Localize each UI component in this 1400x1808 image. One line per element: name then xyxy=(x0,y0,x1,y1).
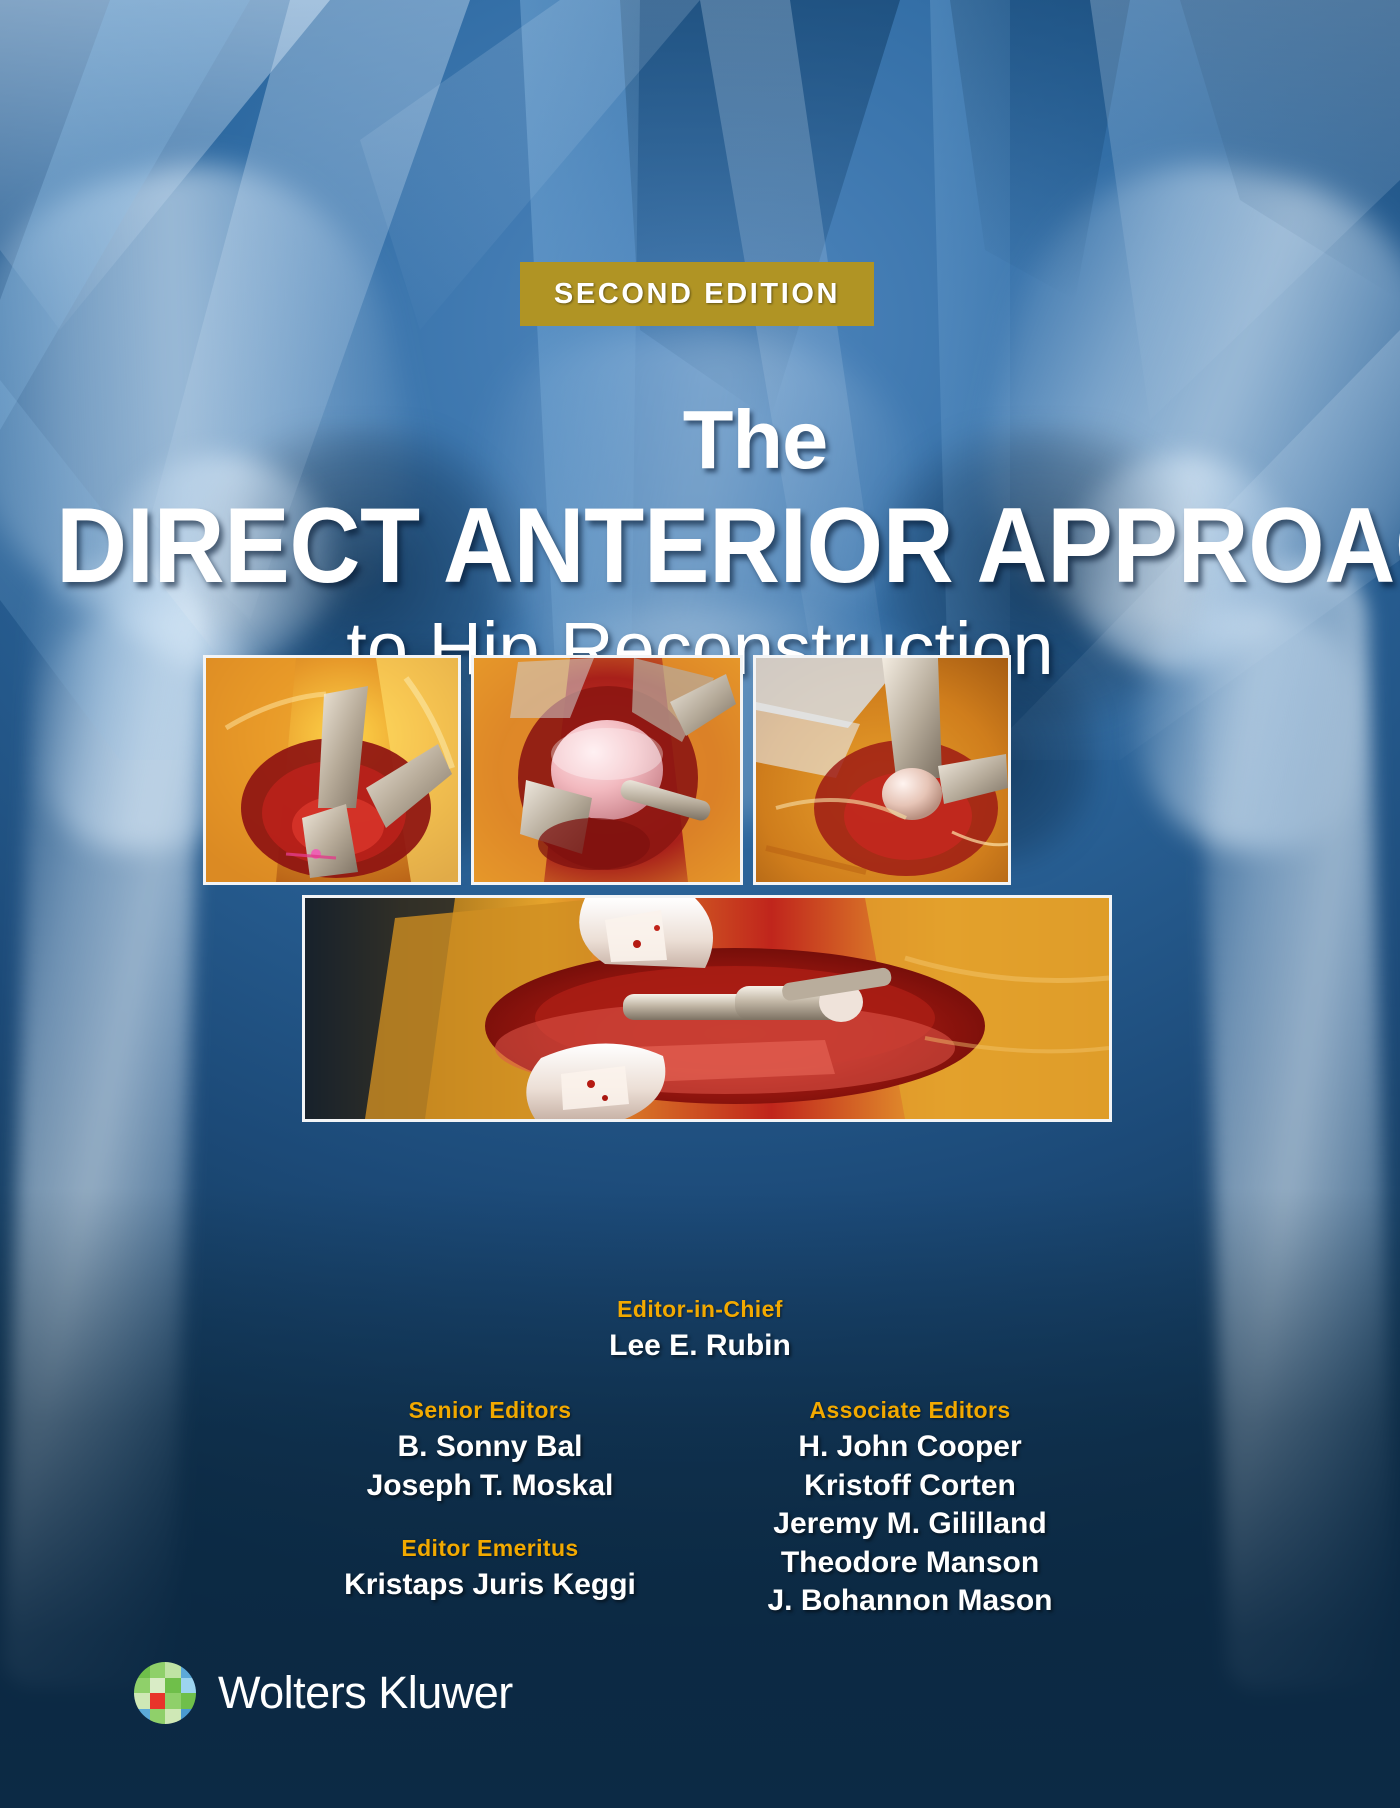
senior-editors-role: Senior Editors xyxy=(280,1397,700,1424)
globe-cell xyxy=(165,1709,181,1725)
publisher-name: Wolters Kluwer xyxy=(218,1667,513,1719)
book-cover: SECOND EDITION The DIRECT ANTERIOR APPRO… xyxy=(0,0,1400,1808)
credits-block: Editor-in-Chief Lee E. Rubin Senior Edit… xyxy=(0,1296,1400,1620)
surgical-photo-2 xyxy=(471,655,743,885)
associate-editors-column: Associate Editors H. John Cooper Kristof… xyxy=(700,1397,1120,1620)
senior-editor-name-1: B. Sonny Bal xyxy=(280,1428,700,1466)
associate-editor-name-5: J. Bohannon Mason xyxy=(700,1582,1120,1620)
surgical-photo-1-image xyxy=(206,658,458,882)
globe-cell xyxy=(165,1678,181,1694)
photo-row-top xyxy=(203,655,1211,885)
editor-in-chief-name: Lee E. Rubin xyxy=(0,1327,1400,1365)
senior-editor-name-2: Joseph T. Moskal xyxy=(280,1467,700,1505)
publisher-logo: Wolters Kluwer xyxy=(134,1662,513,1724)
senior-editors-column: Senior Editors B. Sonny Bal Joseph T. Mo… xyxy=(280,1397,700,1620)
edition-banner: SECOND EDITION xyxy=(520,262,874,326)
globe-cell xyxy=(150,1678,166,1694)
globe-cell xyxy=(134,1709,150,1725)
editor-emeritus-role: Editor Emeritus xyxy=(280,1535,700,1562)
surgical-photo-3 xyxy=(753,655,1011,885)
associate-editor-name-3: Jeremy M. Gililland xyxy=(700,1505,1120,1543)
globe-cell xyxy=(181,1678,197,1694)
globe-cell xyxy=(134,1693,150,1709)
globe-cell xyxy=(181,1662,197,1678)
surgical-photo-1 xyxy=(203,655,461,885)
title-block: The DIRECT ANTERIOR APPROACH to Hip Reco… xyxy=(0,398,1400,690)
column-spacer xyxy=(280,1505,700,1535)
wolters-kluwer-globe-icon xyxy=(134,1662,196,1724)
globe-cell xyxy=(134,1678,150,1694)
globe-cell xyxy=(181,1709,197,1725)
title-line-the: The xyxy=(110,398,1400,481)
globe-cell xyxy=(134,1662,150,1678)
globe-cell xyxy=(150,1662,166,1678)
editor-in-chief-role: Editor-in-Chief xyxy=(0,1296,1400,1323)
cover-content: SECOND EDITION The DIRECT ANTERIOR APPRO… xyxy=(0,0,1400,1808)
surgical-photo-2-image xyxy=(474,658,740,882)
surgical-photo-4 xyxy=(302,895,1112,1122)
surgical-photo-4-image xyxy=(305,898,1109,1119)
associate-editors-role: Associate Editors xyxy=(700,1397,1120,1424)
associate-editor-name-4: Theodore Manson xyxy=(700,1544,1120,1582)
surgical-photo-grid xyxy=(203,655,1211,1122)
globe-cell xyxy=(165,1662,181,1678)
associate-editor-name-1: H. John Cooper xyxy=(700,1428,1120,1466)
globe-cell xyxy=(150,1709,166,1725)
wolters-kluwer-globe-grid xyxy=(134,1662,196,1724)
editors-columns: Senior Editors B. Sonny Bal Joseph T. Mo… xyxy=(0,1397,1400,1620)
edition-label: SECOND EDITION xyxy=(554,278,840,311)
globe-cell xyxy=(150,1693,166,1709)
title-line-main: DIRECT ANTERIOR APPROACH xyxy=(56,489,1344,602)
editor-emeritus-name-1: Kristaps Juris Keggi xyxy=(280,1566,700,1604)
globe-cell xyxy=(165,1693,181,1709)
associate-editor-name-2: Kristoff Corten xyxy=(700,1467,1120,1505)
surgical-photo-3-image xyxy=(756,658,1008,882)
globe-cell xyxy=(181,1693,197,1709)
